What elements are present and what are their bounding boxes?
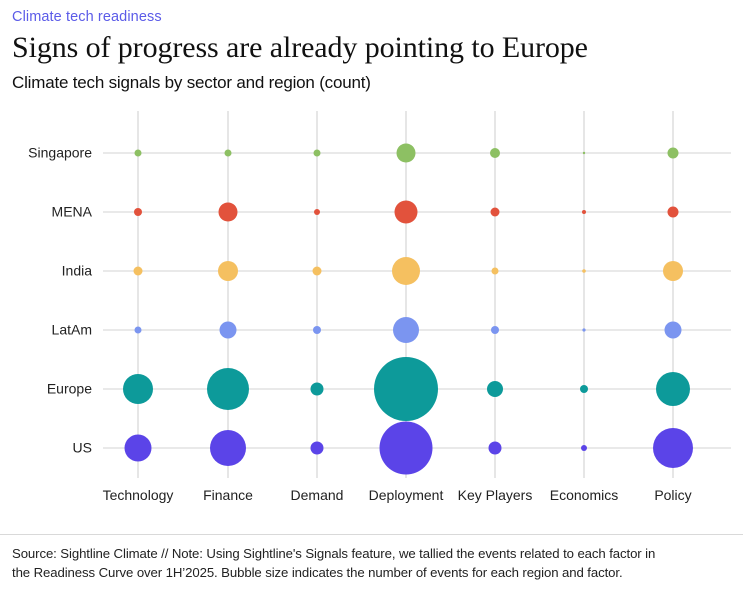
bubble-india-technology[interactable]	[134, 266, 143, 275]
x-axis-label-key-players: Key Players	[458, 487, 533, 503]
bubble-latam-demand[interactable]	[313, 326, 321, 334]
bubble-india-policy[interactable]	[663, 261, 683, 281]
bubble-mena-finance[interactable]	[219, 202, 238, 221]
bubble-mena-policy[interactable]	[668, 206, 679, 217]
bubble-latam-key-players[interactable]	[491, 326, 499, 334]
bubble-singapore-policy[interactable]	[668, 147, 679, 158]
bubble-singapore-economics[interactable]	[583, 152, 585, 154]
bubble-singapore-finance[interactable]	[225, 149, 232, 156]
bubble-latam-technology[interactable]	[135, 326, 142, 333]
bubble-europe-policy[interactable]	[656, 372, 690, 406]
x-axis-label-deployment: Deployment	[369, 487, 444, 503]
kicker-label: Climate tech readiness	[12, 8, 731, 27]
bubble-chart-svg: SingaporeMENAIndiaLatAmEuropeUS Technolo…	[0, 102, 743, 512]
bubble-mena-economics[interactable]	[582, 210, 586, 214]
y-axis-labels: SingaporeMENAIndiaLatAmEuropeUS	[28, 145, 92, 456]
bubble-singapore-deployment[interactable]	[397, 143, 416, 162]
footnote-line-1: Source: Sightline Climate // Note: Using…	[12, 544, 731, 564]
bubble-us-policy[interactable]	[653, 428, 693, 468]
y-axis-label-india: India	[62, 263, 93, 279]
chart-header: Climate tech readiness Signs of progress…	[0, 0, 743, 94]
chart-page: Climate tech readiness Signs of progress…	[0, 0, 743, 593]
bubble-mena-technology[interactable]	[134, 208, 142, 216]
chart-subtitle: Climate tech signals by sector and regio…	[12, 73, 731, 93]
bubble-europe-key-players[interactable]	[487, 381, 503, 397]
bubble-chart: SingaporeMENAIndiaLatAmEuropeUS Technolo…	[0, 102, 743, 512]
y-axis-label-us: US	[73, 440, 92, 456]
bubble-europe-deployment[interactable]	[374, 357, 438, 421]
bubble-india-deployment[interactable]	[392, 257, 420, 285]
x-axis-label-finance: Finance	[203, 487, 253, 503]
bubble-us-deployment[interactable]	[380, 421, 433, 474]
x-axis-labels: TechnologyFinanceDemandDeploymentKey Pla…	[103, 487, 692, 503]
bubble-mena-demand[interactable]	[314, 209, 320, 215]
page-title: Signs of progress are already pointing t…	[12, 31, 731, 65]
bubble-latam-finance[interactable]	[220, 321, 237, 338]
bubble-singapore-key-players[interactable]	[490, 148, 500, 158]
bubble-mena-deployment[interactable]	[395, 200, 418, 223]
bubble-us-key-players[interactable]	[489, 441, 502, 454]
bubble-us-economics[interactable]	[581, 445, 587, 451]
bubble-singapore-demand[interactable]	[314, 149, 321, 156]
x-axis-label-economics: Economics	[550, 487, 618, 503]
bubble-series-group	[123, 143, 693, 474]
y-axis-label-europe: Europe	[47, 381, 92, 397]
bubble-us-technology[interactable]	[125, 434, 152, 461]
bubble-india-economics[interactable]	[582, 269, 586, 273]
bubble-europe-technology[interactable]	[123, 374, 153, 404]
x-axis-label-demand: Demand	[291, 487, 344, 503]
bubble-latam-deployment[interactable]	[393, 317, 419, 343]
x-axis-label-policy: Policy	[654, 487, 691, 503]
bubble-europe-demand[interactable]	[311, 382, 324, 395]
bubble-europe-finance[interactable]	[207, 368, 249, 410]
bubble-latam-economics[interactable]	[582, 328, 585, 331]
bubble-mena-key-players[interactable]	[491, 207, 500, 216]
bubble-india-finance[interactable]	[218, 261, 238, 281]
footnote-line-2: the Readiness Curve over 1H’2025. Bubble…	[12, 563, 731, 583]
bubble-us-demand[interactable]	[311, 441, 324, 454]
y-axis-label-latam: LatAm	[52, 322, 92, 338]
x-axis-label-technology: Technology	[103, 487, 174, 503]
bubble-india-key-players[interactable]	[492, 267, 499, 274]
bubble-india-demand[interactable]	[313, 266, 322, 275]
bubble-europe-economics[interactable]	[580, 385, 588, 393]
bubble-latam-policy[interactable]	[665, 321, 682, 338]
bubble-singapore-technology[interactable]	[135, 149, 142, 156]
bubble-us-finance[interactable]	[210, 430, 246, 466]
y-axis-label-singapore: Singapore	[28, 145, 92, 161]
y-axis-label-mena: MENA	[52, 204, 93, 220]
chart-footnote: Source: Sightline Climate // Note: Using…	[0, 534, 743, 593]
